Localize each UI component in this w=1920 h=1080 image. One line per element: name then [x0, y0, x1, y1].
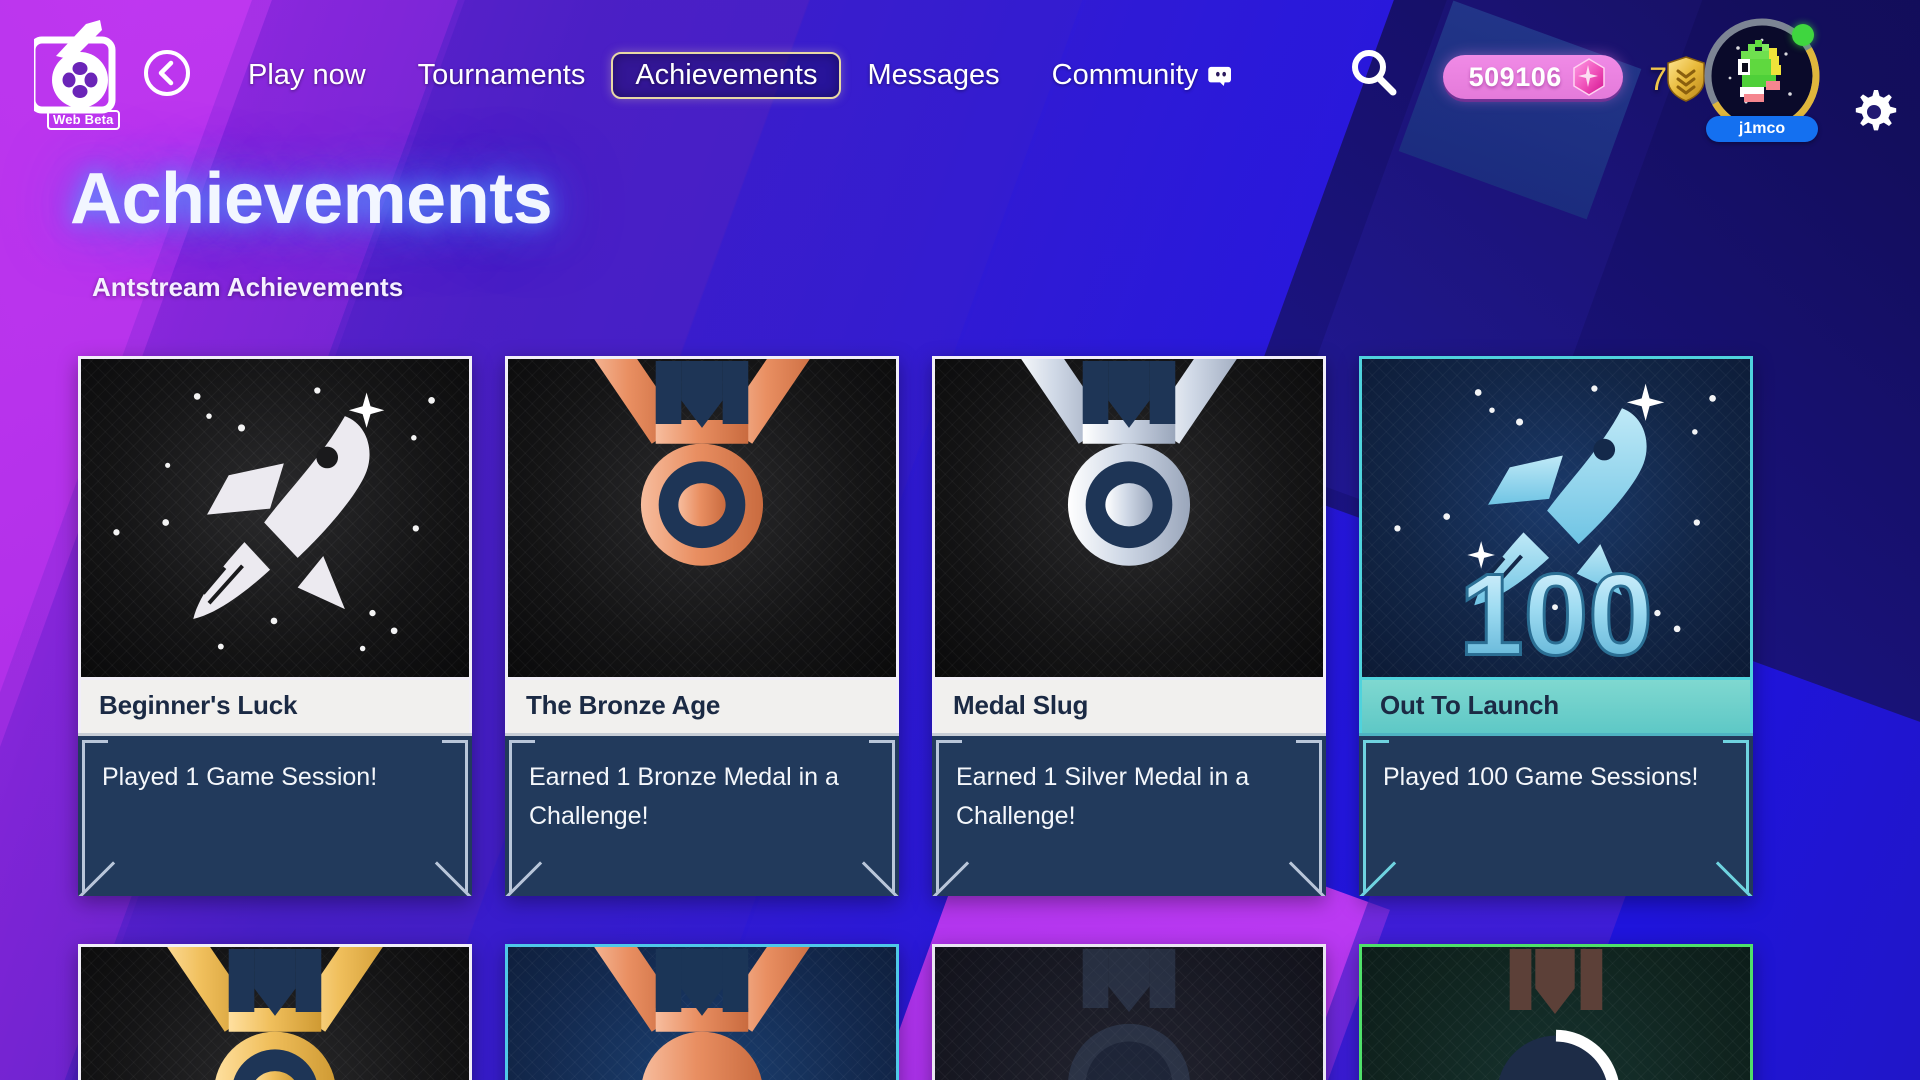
achievements-page: Web Beta Play now Tournaments Achievemen…: [0, 0, 1920, 1080]
top-navigation-bar: Web Beta Play now Tournaments Achievemen…: [0, 0, 1920, 165]
achievement-title-bar: Out To Launch: [1359, 680, 1753, 733]
gear-icon[interactable]: [1850, 88, 1898, 136]
rocket-100-icon: 100: [1362, 359, 1750, 678]
achievement-art: [932, 356, 1326, 680]
nav-item-community[interactable]: Community: [1026, 53, 1261, 98]
achievement-title: Medal Slug: [953, 690, 1305, 721]
nav-item-achievements[interactable]: Achievements: [611, 52, 841, 99]
discord-icon: [1208, 66, 1234, 86]
corner-bracket: [1715, 858, 1753, 896]
corner-bracket: [434, 858, 472, 896]
corner-bracket: [78, 858, 116, 896]
achievement-art: [505, 944, 899, 1080]
achievement-art: [505, 356, 899, 680]
nav-right-cluster: 509106 7: [1345, 0, 1920, 144]
medal-bronze-icon: [508, 947, 896, 1080]
achievement-art: [932, 944, 1326, 1080]
corner-bracket: [1359, 858, 1397, 896]
achievement-card[interactable]: Medal Slug Earned 1 Silver Medal in a Ch…: [932, 356, 1326, 896]
achievement-card[interactable]: [1359, 944, 1753, 1080]
nav-item-label: Achievements: [635, 59, 817, 92]
achievement-card[interactable]: [505, 944, 899, 1080]
achievement-badge-number: 100: [1459, 549, 1653, 678]
nav-item-label: Play now: [248, 59, 366, 92]
back-button[interactable]: [142, 48, 192, 98]
achievement-description: Earned 1 Silver Medal in a Challenge!: [956, 758, 1302, 836]
wallet-amount: 509106: [1469, 62, 1562, 93]
achievement-description: Played 100 Game Sessions!: [1383, 758, 1729, 797]
corner-bracket: [932, 858, 970, 896]
achievement-card[interactable]: The Bronze Age Earned 1 Bronze Medal in …: [505, 356, 899, 896]
achievement-card[interactable]: 100 Out To Launch Played 100 Game Sessio…: [1359, 356, 1753, 896]
achievement-description-panel: Earned 1 Bronze Medal in a Challenge!: [505, 733, 899, 896]
achievement-card[interactable]: Beginner's Luck Played 1 Game Session!: [78, 356, 472, 896]
nav-item-play-now[interactable]: Play now: [222, 53, 392, 98]
achievement-title: Beginner's Luck: [99, 690, 451, 721]
achievement-card[interactable]: [932, 944, 1326, 1080]
nav-item-label: Community: [1052, 59, 1199, 92]
avatar[interactable]: j1mco: [1700, 14, 1824, 144]
achievement-art: [78, 944, 472, 1080]
achievement-title: The Bronze Age: [526, 690, 878, 721]
nav-item-label: Tournaments: [418, 59, 586, 92]
player-level[interactable]: 7: [1649, 56, 1706, 102]
achievement-art: [1359, 944, 1753, 1080]
achievement-title-bar: Beginner's Luck: [78, 680, 472, 733]
nav-item-messages[interactable]: Messages: [841, 53, 1025, 98]
nav-items: Play now Tournaments Achievements Messag…: [222, 52, 1260, 99]
nav-item-tournaments[interactable]: Tournaments: [392, 53, 612, 98]
achievement-description: Earned 1 Bronze Medal in a Challenge!: [529, 758, 875, 836]
medal-silver-icon: [935, 359, 1323, 678]
nav-item-label: Messages: [867, 59, 999, 92]
achievement-description-panel: Played 1 Game Session!: [78, 733, 472, 896]
gem-icon: [1572, 58, 1606, 96]
achievement-art: 100: [1359, 356, 1753, 680]
medal-green-icon: [1362, 947, 1750, 1080]
rocket-icon: [81, 359, 469, 678]
medal-gold-icon: [81, 947, 469, 1080]
web-beta-badge: Web Beta: [47, 110, 120, 130]
status-indicator: [1792, 24, 1814, 46]
achievement-card[interactable]: [78, 944, 472, 1080]
username-pill: j1mco: [1706, 116, 1818, 142]
medal-bronze-icon: [508, 359, 896, 678]
achievement-grid: Beginner's Luck Played 1 Game Session!: [78, 356, 1878, 1080]
corner-bracket: [505, 858, 543, 896]
section-title: Antstream Achievements: [92, 272, 403, 303]
search-icon[interactable]: [1345, 44, 1401, 100]
achievement-title-bar: The Bronze Age: [505, 680, 899, 733]
corner-bracket: [861, 858, 899, 896]
achievement-description-panel: Played 100 Game Sessions!: [1359, 733, 1753, 896]
achievement-title-bar: Medal Slug: [932, 680, 1326, 733]
achievement-description-panel: Earned 1 Silver Medal in a Challenge!: [932, 733, 1326, 896]
app-logo[interactable]: Web Beta: [34, 14, 120, 132]
achievement-art: [78, 356, 472, 680]
antstream-juicebox-logo-icon: [34, 14, 120, 114]
level-number: 7: [1649, 61, 1667, 98]
corner-bracket: [1288, 858, 1326, 896]
page-title: Achievements: [70, 158, 552, 240]
achievement-description: Played 1 Game Session!: [102, 758, 448, 797]
achievement-title: Out To Launch: [1380, 690, 1732, 721]
medal-dim-icon: [935, 947, 1323, 1080]
wallet-pill[interactable]: 509106: [1443, 55, 1623, 99]
